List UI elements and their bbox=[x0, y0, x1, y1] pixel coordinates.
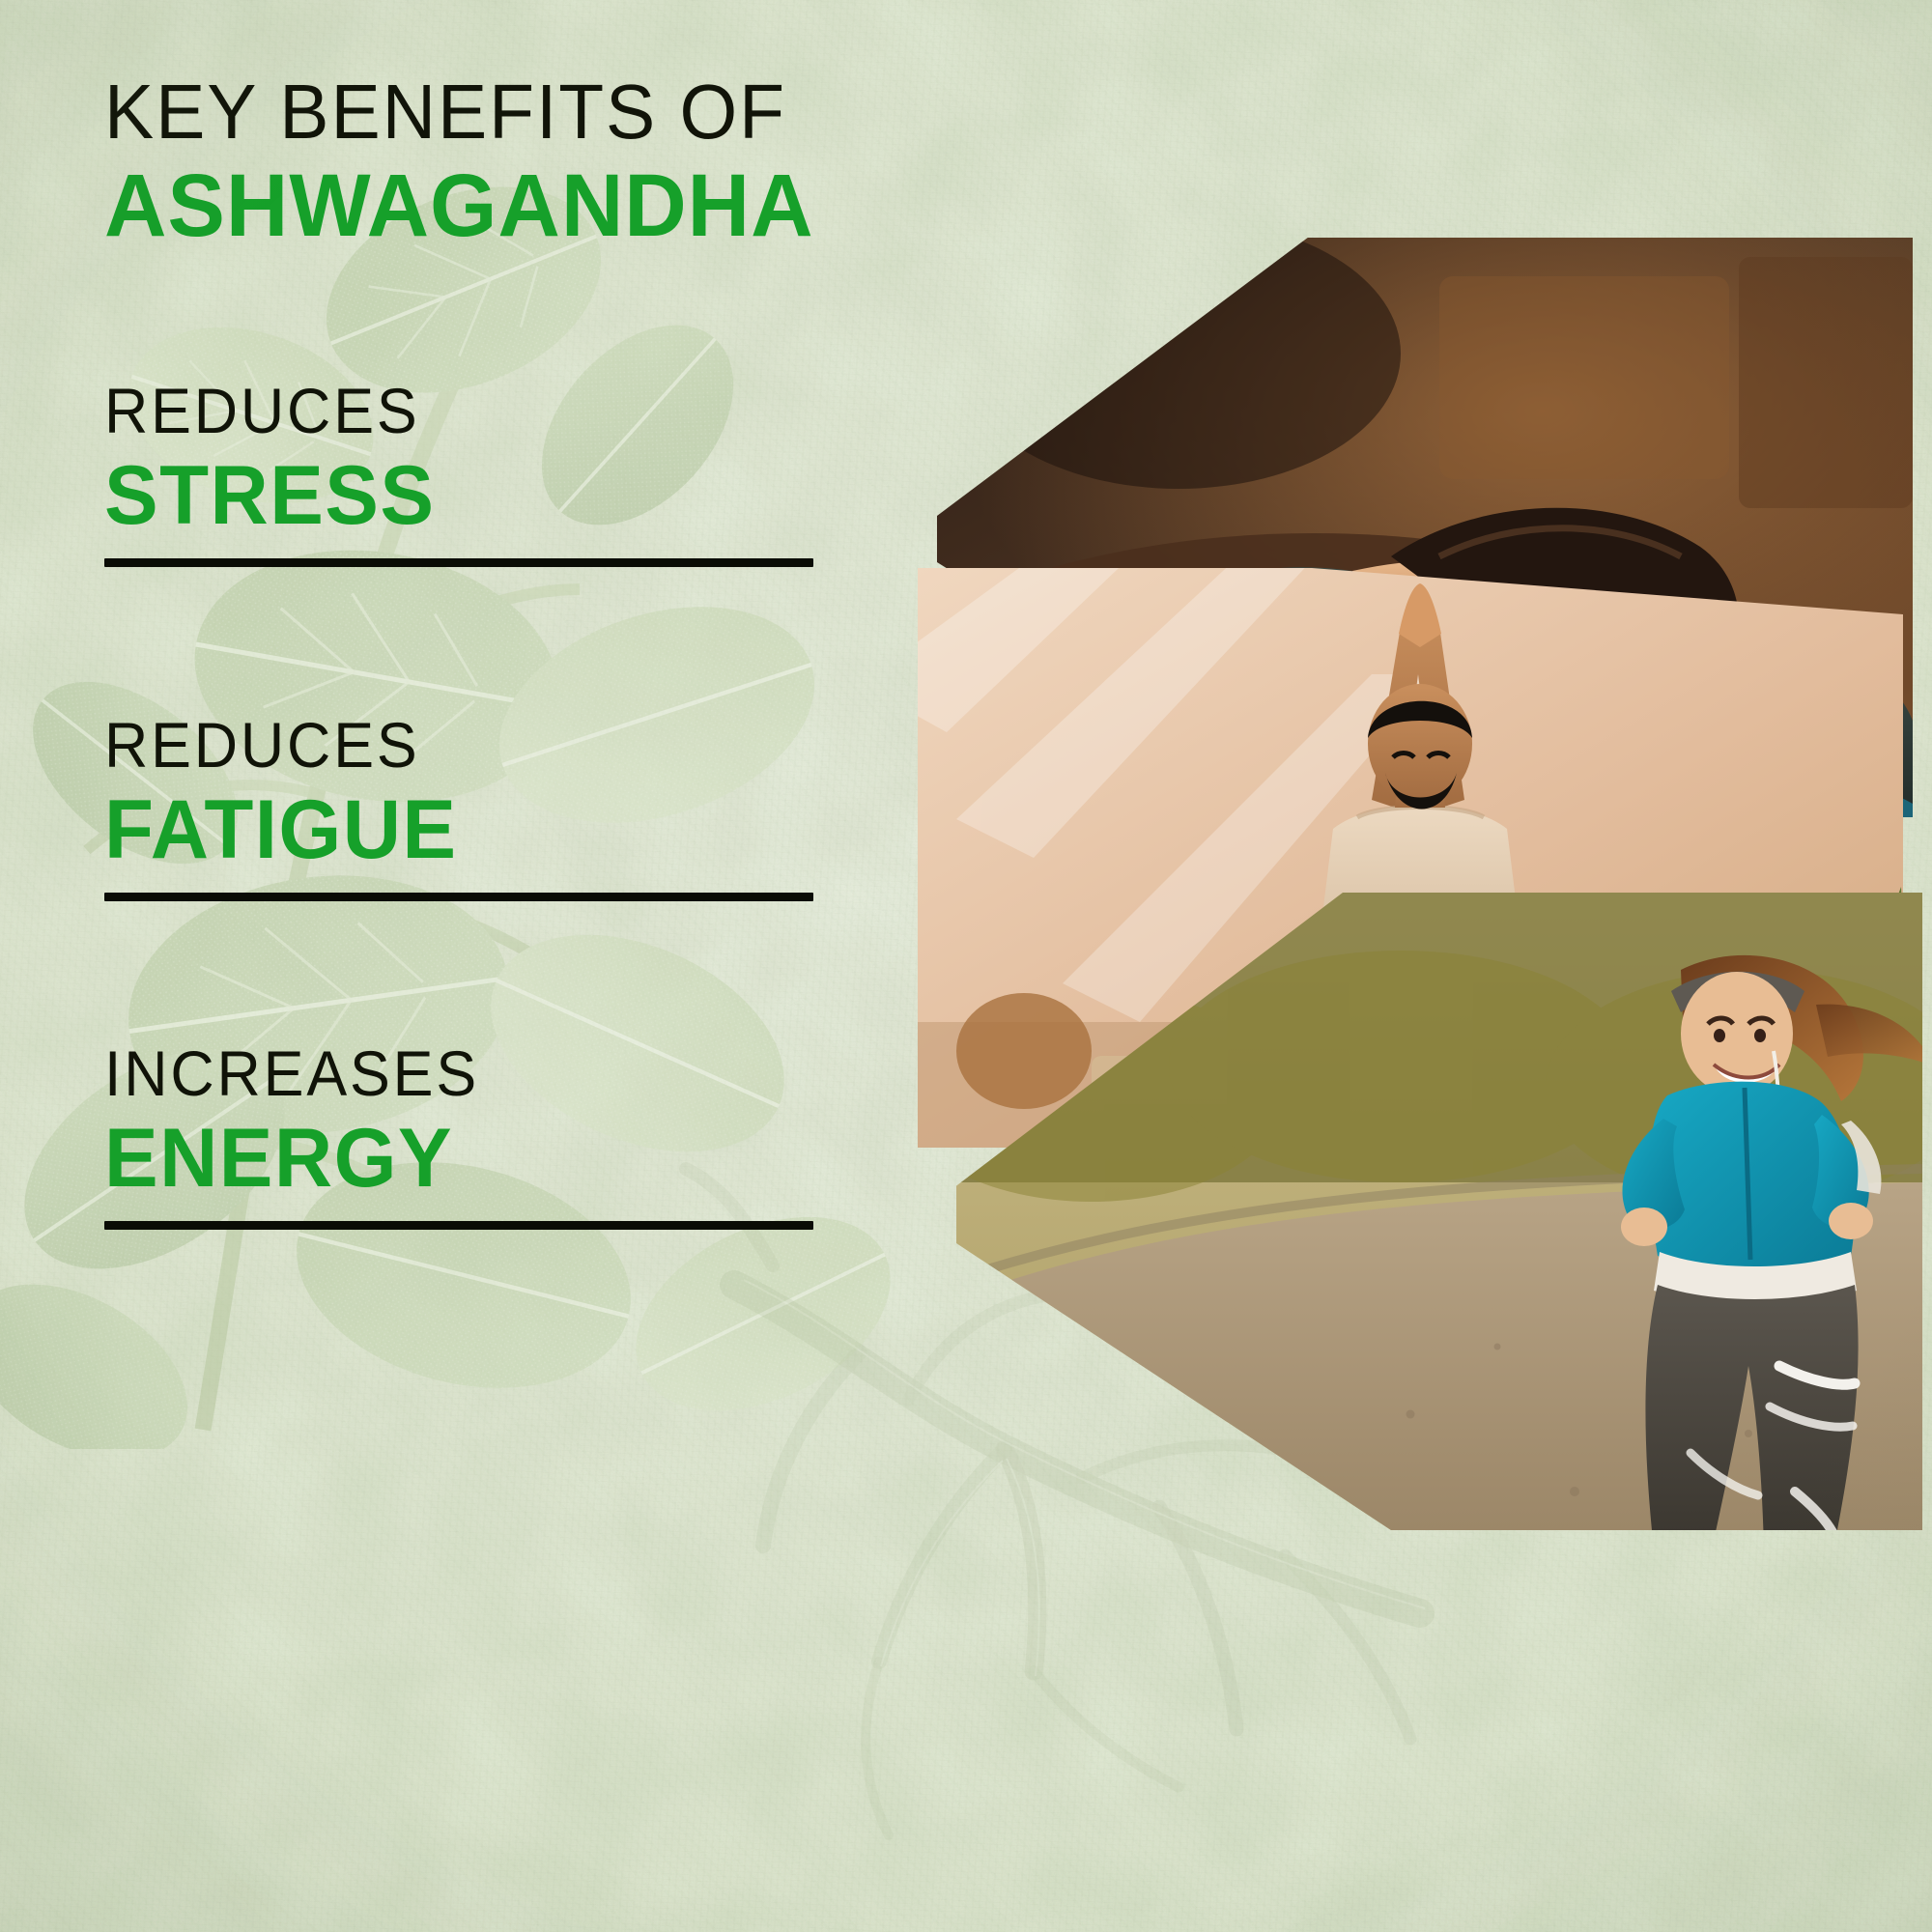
benefit-keyword-3: ENERGY bbox=[104, 1117, 816, 1200]
benefit-underline-2 bbox=[104, 893, 813, 901]
page-title: KEY BENEFITS OF ASHWAGANDHA bbox=[104, 75, 1070, 248]
benefit-lead-2: REDUCES bbox=[104, 713, 802, 777]
benefit-keyword-2: FATIGUE bbox=[104, 788, 816, 871]
headline-line-2: ASHWAGANDHA bbox=[104, 163, 1041, 248]
benefit-item-stress: REDUCES STRESS bbox=[104, 379, 838, 567]
benefit-lead-3: INCREASES bbox=[104, 1041, 802, 1105]
benefit-keyword-1: STRESS bbox=[104, 454, 816, 537]
benefit-lead-1: REDUCES bbox=[104, 379, 802, 442]
photo-collage bbox=[937, 0, 1932, 1932]
benefit-underline-1 bbox=[104, 558, 813, 567]
headline-line-1: KEY BENEFITS OF bbox=[104, 75, 1032, 150]
benefit-item-fatigue: REDUCES FATIGUE bbox=[104, 713, 838, 901]
poster-canvas: KEY BENEFITS OF ASHWAGANDHA REDUCES STRE… bbox=[0, 0, 1932, 1932]
benefit-item-energy: INCREASES ENERGY bbox=[104, 1041, 838, 1230]
benefit-underline-3 bbox=[104, 1221, 813, 1230]
